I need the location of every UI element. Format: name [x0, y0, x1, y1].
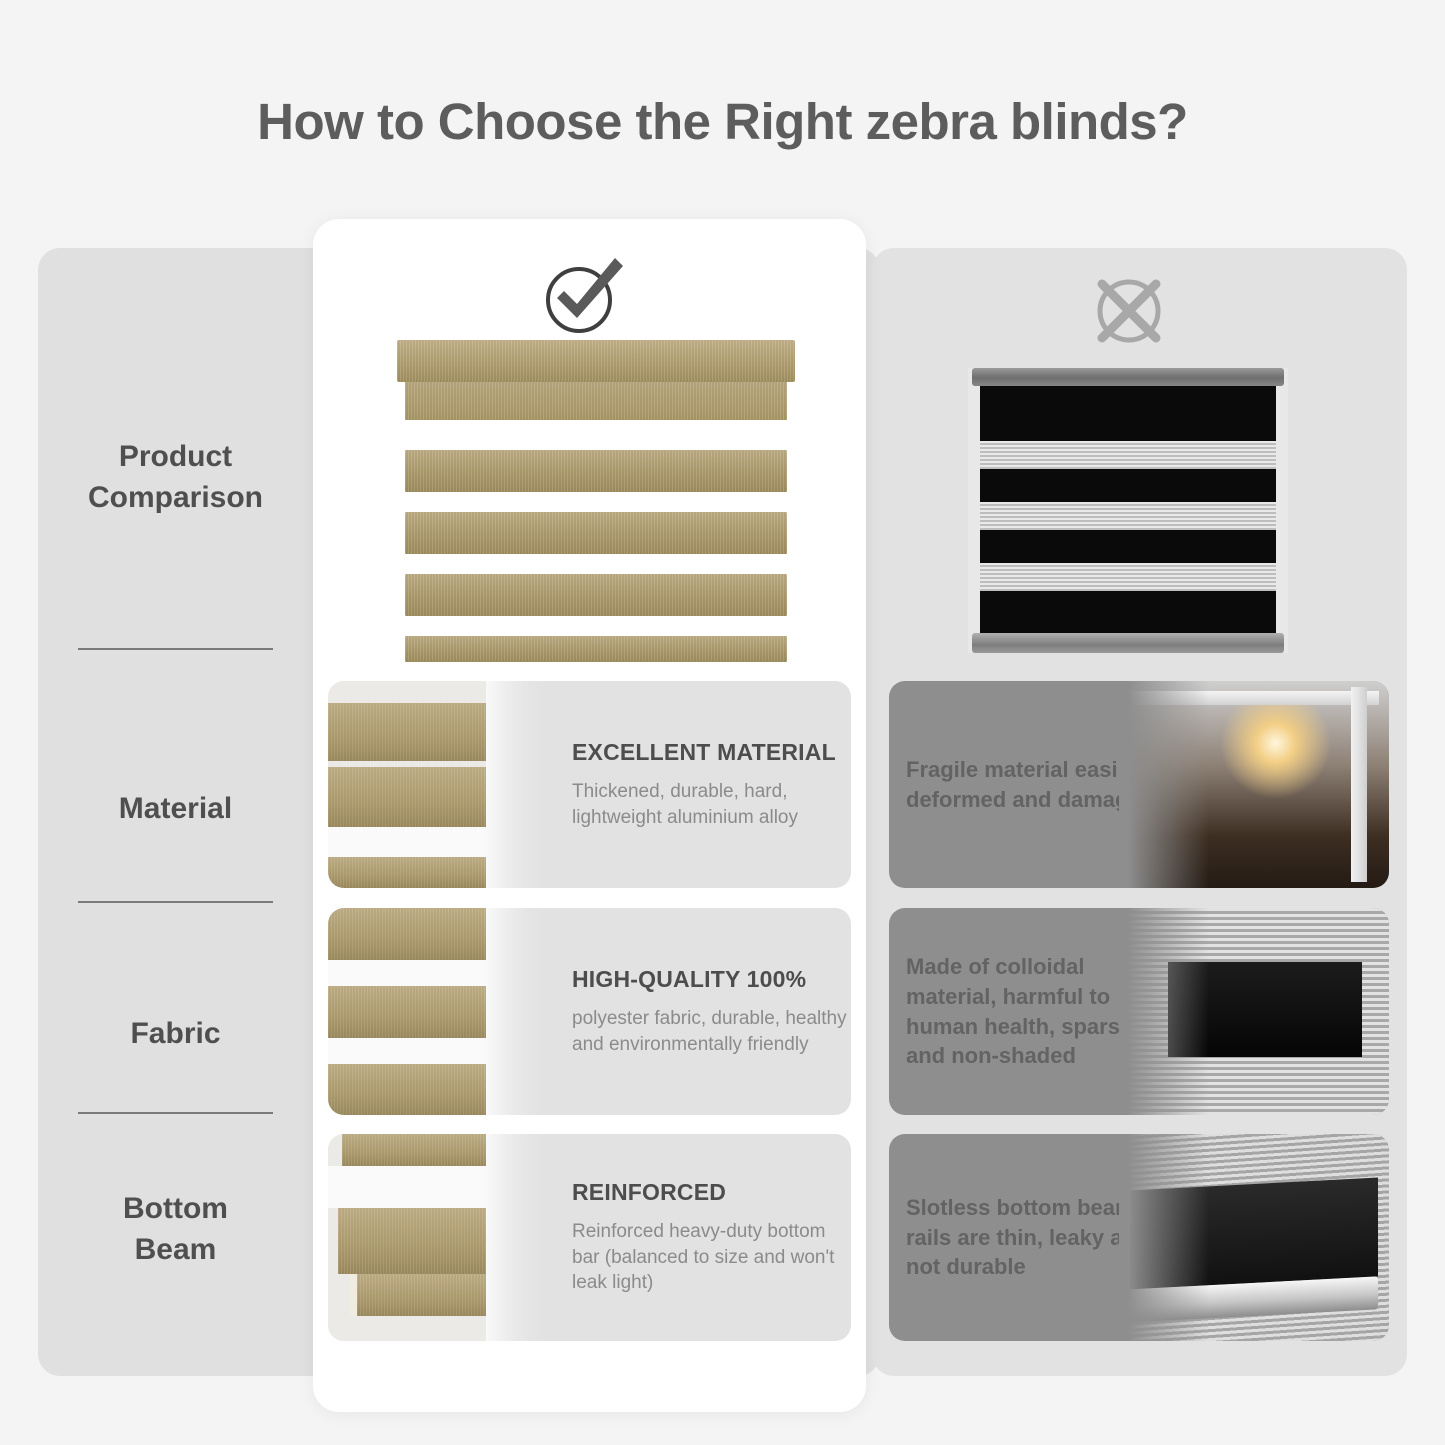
- feature-photo-material-bad: [1119, 681, 1389, 888]
- hero-bad-bottom-rail: [972, 633, 1284, 653]
- feature-photo-fabric-bad: [1119, 908, 1389, 1115]
- hero-slat: [405, 574, 787, 616]
- row-label-line1: Material: [38, 788, 313, 829]
- feature-card-fabric-good: HIGH-QUALITY 100% polyester fabric, dura…: [328, 908, 851, 1115]
- feature-photo-fabric-good: [328, 908, 560, 1115]
- hero-bad-sheer-band: [980, 441, 1276, 469]
- row-label-line1: Fabric: [38, 1013, 313, 1054]
- feature-description: polyester fabric, durable, healthy and e…: [572, 1006, 851, 1058]
- row-divider-2: [78, 901, 273, 903]
- feature-card-fabric-bad: Made of colloidal material, harmful to h…: [889, 908, 1389, 1115]
- feature-photo-material-good: [328, 681, 560, 888]
- hero-slat: [405, 450, 787, 492]
- feature-card-material-good: EXCELLENT MATERIAL Thickened, durable, h…: [328, 681, 851, 888]
- feature-description: Thickened, durable, hard, lightweight al…: [572, 779, 851, 831]
- page-title: How to Choose the Right zebra blinds?: [0, 92, 1445, 151]
- row-divider-3: [78, 1112, 273, 1114]
- hero-headrail: [397, 340, 795, 382]
- infographic-canvas: How to Choose the Right zebra blinds? Pr…: [0, 0, 1445, 1445]
- hero-image-good-blind: [383, 340, 795, 665]
- feature-card-bottom-beam-good: REINFORCED Reinforced heavy-duty bottom …: [328, 1134, 851, 1341]
- hero-slat: [405, 512, 787, 554]
- feature-text-bottom-beam-good: REINFORCED Reinforced heavy-duty bottom …: [572, 1134, 851, 1341]
- feature-card-material-bad: Fragile material easily deformed and dam…: [889, 681, 1389, 888]
- thin-bottom-rail-photo: [1119, 1134, 1389, 1341]
- row-label-line2: Beam: [38, 1229, 313, 1270]
- hero-bad-fabric: [980, 386, 1276, 633]
- hero-bad-sheer-band: [980, 563, 1276, 591]
- feature-description: Reinforced heavy-duty bottom bar (balanc…: [572, 1219, 851, 1296]
- feature-card-bottom-beam-bad: Slotless bottom beam rails are thin, lea…: [889, 1134, 1389, 1341]
- row-label-fabric: Fabric: [38, 1013, 313, 1054]
- hero-bad-headrail: [972, 368, 1284, 386]
- feature-text-material-good: EXCELLENT MATERIAL Thickened, durable, h…: [572, 681, 851, 888]
- feature-photo-bottom-beam-good: [328, 1134, 560, 1341]
- sun-glare-photo: [1119, 681, 1389, 888]
- feature-heading: HIGH-QUALITY 100%: [572, 966, 851, 993]
- feature-photo-bottom-beam-bad: [1119, 1134, 1389, 1341]
- feature-heading: REINFORCED: [572, 1179, 851, 1206]
- row-divider-1: [78, 648, 273, 650]
- row-label-product-comparison: Product Comparison: [38, 436, 313, 519]
- sparse-fabric-photo: [1119, 908, 1389, 1115]
- row-label-bottom-beam: Bottom Beam: [38, 1188, 313, 1271]
- row-label-line2: Comparison: [38, 477, 313, 518]
- cross-circle-icon: [1086, 272, 1172, 350]
- hero-bottom-bar: [405, 636, 787, 662]
- hero-headrail-lip: [405, 382, 787, 420]
- check-circle-icon: [537, 252, 633, 338]
- feature-text-fabric-good: HIGH-QUALITY 100% polyester fabric, dura…: [572, 908, 851, 1115]
- hero-image-bad-blind: [968, 368, 1288, 653]
- row-label-line1: Product: [38, 436, 313, 477]
- row-label-material: Material: [38, 788, 313, 829]
- feature-heading: EXCELLENT MATERIAL: [572, 739, 851, 766]
- hero-bad-sheer-band: [980, 502, 1276, 530]
- row-label-line1: Bottom: [38, 1188, 313, 1229]
- row-label-column: Product Comparison Material Fabric Botto…: [38, 248, 313, 1376]
